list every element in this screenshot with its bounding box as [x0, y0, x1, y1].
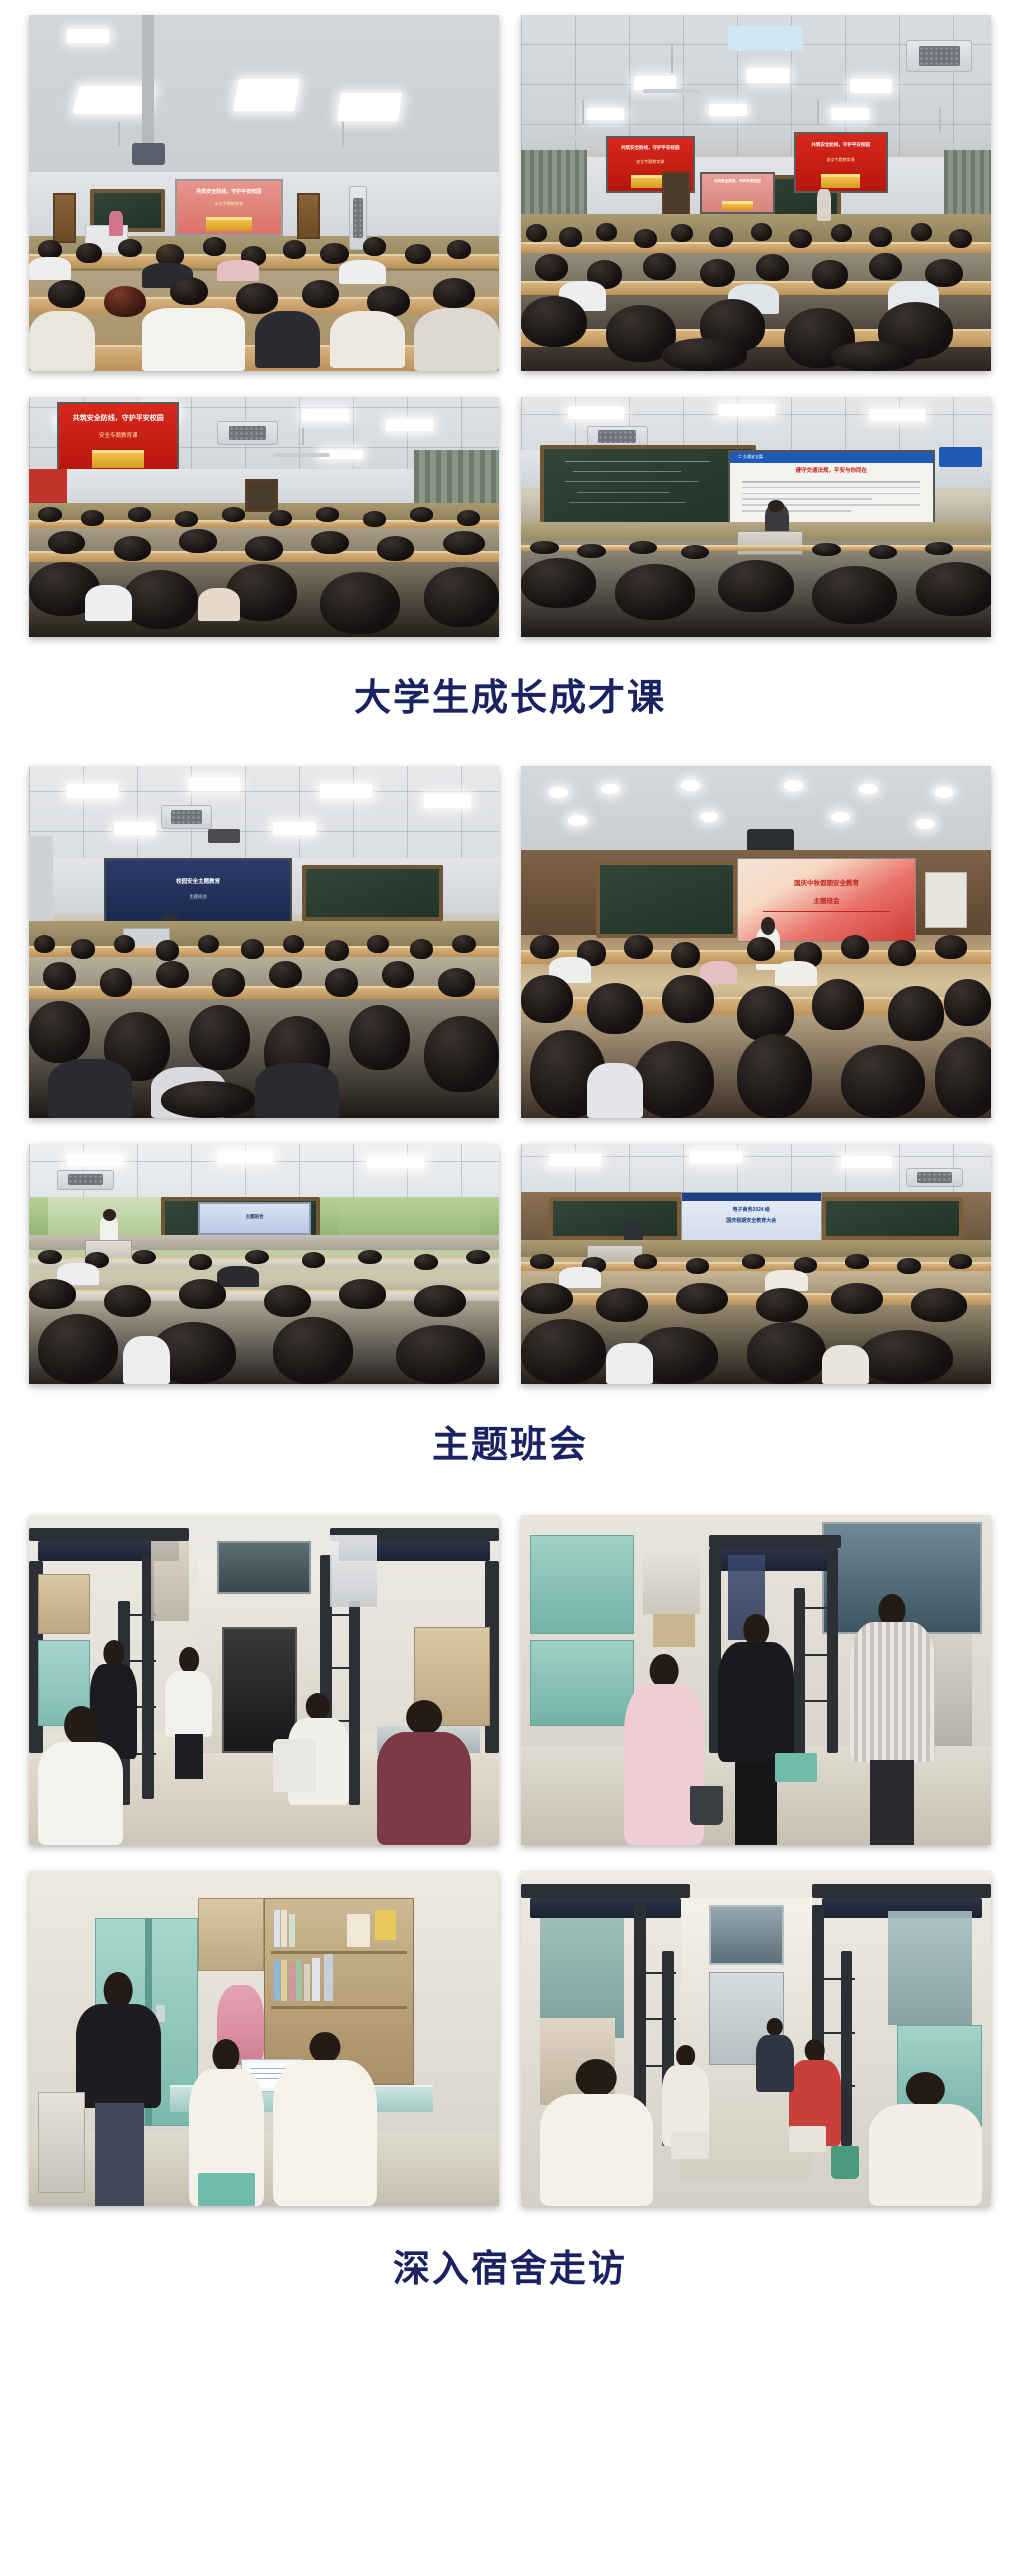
- screen-line-2: 主题班会: [745, 895, 907, 905]
- student-seated-foreground: [540, 2059, 653, 2206]
- teacher-standing: [76, 1972, 161, 2207]
- screen-line-2: 二 交通安全篇: [738, 454, 763, 460]
- student-seated-left: [662, 2045, 709, 2146]
- section-theme-class-meeting: 校园安全主题教育 主题班会: [0, 716, 1020, 1463]
- door: [222, 1627, 297, 1752]
- photo-electronics-class-meeting[interactable]: 电子商务2024 级 国庆假期安全教育大会: [521, 1144, 991, 1384]
- screen-safety-banner: 共筑安全防线，守护平安校园 安全专题教育课: [175, 179, 283, 236]
- screen-safety-banner-right: 共筑安全防线，守护平安校园 安全专题教育课: [794, 132, 888, 193]
- blackboard: [540, 445, 756, 527]
- screen-traffic-safety: 二 交通安全篇 遵守交通法规，平安与你同在: [728, 450, 935, 527]
- photo-grid-theme-class-meeting: 校园安全主题教育 主题班会: [0, 716, 1020, 1384]
- photo-female-dorm-visit[interactable]: [521, 1515, 991, 1845]
- window: [709, 1905, 784, 1965]
- screen-theme-meeting: 校园安全主题教育 主题班会: [104, 858, 292, 928]
- window: [217, 1541, 311, 1594]
- screen-line-1: 共筑安全防线，守护平安校园: [704, 179, 770, 184]
- trash-bin: [831, 2146, 859, 2180]
- screen-line-1: 遵守交通法规，平安与你同在: [738, 466, 925, 474]
- screen-line-1: 共筑安全防线，守护平安校园: [611, 145, 689, 151]
- shelf-rack: [38, 2092, 85, 2193]
- photo-male-dorm-visit[interactable]: [29, 1515, 499, 1845]
- trash-bin: [690, 1786, 723, 1826]
- caption-theme-class-meeting: 主题班会: [0, 1384, 1020, 1463]
- stool: [789, 2126, 827, 2153]
- student-standing-corridor: [756, 2018, 794, 2092]
- student-seated-foreground-right: [869, 2072, 982, 2206]
- screen-line-1: 国庆中秋假期安全教育: [745, 877, 907, 887]
- photo-lecture-hall-red-screen[interactable]: 共筑安全防线，守护平安校园 安全专题教育课: [29, 397, 499, 637]
- student-standing: [165, 1647, 212, 1779]
- screen-projection: 共筑安全防线，守护平安校园: [700, 172, 775, 215]
- screen-theme-meeting: 主题班会: [198, 1202, 311, 1236]
- screen-line-2: 安全专题教育课: [71, 431, 166, 439]
- ceiling-fan-icon: [273, 428, 329, 457]
- ceiling-fan-icon: [916, 108, 963, 147]
- photo-collage-page: 共筑安全防线，守护平安校园 安全专题教育课: [0, 0, 1020, 2287]
- photo-grid-growth-course: 共筑安全防线，守护平安校园 安全专题教育课: [0, 0, 1020, 637]
- student-seated-long-hair: [273, 2032, 376, 2206]
- student-standing-black: [718, 1614, 793, 1845]
- screen-line-1: 共筑安全防线，守护平安校园: [799, 142, 882, 148]
- screen-line-2: 安全专题教育课: [187, 201, 270, 207]
- screen-safety-banner: 共筑安全防线，守护平安校园 安全专题教育课: [57, 402, 179, 474]
- student-standing-striped: [850, 1594, 935, 1845]
- photo-green-wall-classroom[interactable]: 主题班会: [29, 1144, 499, 1384]
- stool: [671, 2132, 709, 2159]
- bed-curtain: [888, 1911, 973, 2025]
- photo-grid-dorm-visits: [0, 1463, 1020, 2206]
- ceiling-fan-icon: [311, 122, 372, 165]
- stool: [775, 1753, 817, 1783]
- section-growth-course: 共筑安全防线，守护平安校园 安全专题教育课: [0, 0, 1020, 716]
- photo-dorm-desk-laptop[interactable]: [29, 1871, 499, 2206]
- screen-line-1: 校园安全主题教育: [117, 877, 279, 885]
- screen-line-1: 共筑安全防线，守护平安校园: [181, 188, 277, 195]
- photo-dorm-corridor-chat[interactable]: [521, 1871, 991, 2206]
- photo-lecture-hall-wide[interactable]: 共筑安全防线，守护平安校园 安全专题教育课: [29, 15, 499, 371]
- office-chair: [273, 1739, 315, 1792]
- photo-national-day-safety-meeting[interactable]: 12:05 国庆中秋假期安全教育 主题班会: [521, 766, 991, 1118]
- student-seated-front: [38, 1706, 123, 1845]
- screen-line-2: 安全专题教育课: [616, 159, 684, 165]
- section-dorm-visits: 深入宿舍走访: [0, 1463, 1020, 2287]
- screen-line-2: 安全专题教育课: [805, 157, 877, 163]
- screen-line-1: 共筑安全防线，守护平安校园: [64, 413, 173, 423]
- caption-dorm-visits: 深入宿舍走访: [0, 2206, 1020, 2287]
- photo-traffic-safety-class[interactable]: 二 交通安全篇 遵守交通法规，平安与你同在: [521, 397, 991, 637]
- screen-line-1: 主题班会: [207, 1214, 303, 1220]
- photo-lecture-hall-dual-screen[interactable]: 共筑安全防线，守护平安校园 安全专题教育课 共筑安全防线，守护平安校园 安全专题…: [521, 15, 991, 371]
- screen-line-2: 国庆假期安全教育大会: [687, 1217, 815, 1224]
- stool: [198, 2173, 254, 2207]
- caption-growth-course: 大学生成长成才课: [0, 637, 1020, 716]
- screen-line-1: 电子商务2024 级: [687, 1206, 815, 1213]
- ceiling-fan-icon: [559, 100, 606, 139]
- screen-electronics-meeting: 电子商务2024 级 国庆假期安全教育大会: [681, 1192, 822, 1245]
- teacher-seated: [377, 1700, 471, 1845]
- photo-classroom-projector-lecture[interactable]: 校园安全主题教育 主题班会: [29, 766, 499, 1118]
- screen-line-2: 主题班会: [117, 894, 279, 900]
- ceiling-fan-icon: [643, 43, 699, 93]
